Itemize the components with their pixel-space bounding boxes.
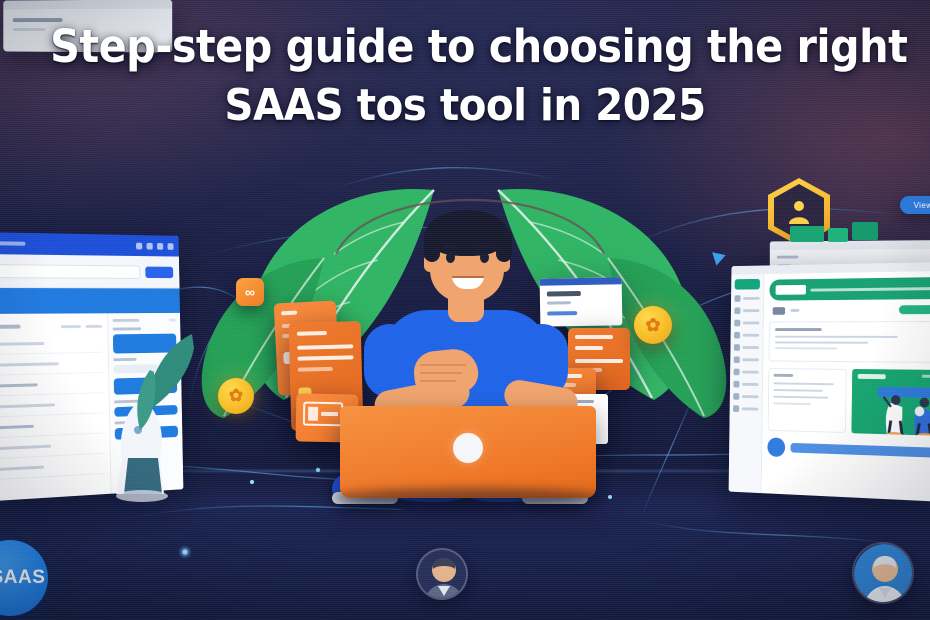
hair-side xyxy=(496,228,512,262)
table-row[interactable] xyxy=(0,333,102,355)
primary-action-button[interactable] xyxy=(145,266,173,278)
sidebar-item[interactable] xyxy=(734,332,759,339)
sidebar-item[interactable] xyxy=(734,320,759,327)
clock-icon xyxy=(734,332,740,339)
bell-icon[interactable] xyxy=(136,242,142,249)
sidebar-item[interactable] xyxy=(733,393,758,400)
sidebar-item[interactable] xyxy=(734,307,759,314)
gear-icon xyxy=(733,405,739,412)
right-dashboard-main xyxy=(762,271,930,502)
green-banner[interactable] xyxy=(769,277,930,301)
settings-icon[interactable] xyxy=(157,243,163,250)
file-icon xyxy=(733,393,739,400)
hero-character xyxy=(316,188,616,548)
headline-line-2: SAAS tos tool in 2025 xyxy=(50,77,880,134)
left-plant xyxy=(132,330,202,440)
drop-icon xyxy=(734,307,740,314)
avatar-center[interactable] xyxy=(416,548,468,600)
left-dashboard-navbar xyxy=(0,232,179,257)
chart-icon xyxy=(734,320,740,327)
eye-left xyxy=(446,252,455,263)
headline-line-1: Step-step guide to choosing the right xyxy=(50,18,880,77)
left-dashboard-toolbar xyxy=(0,254,180,289)
sidebar-item[interactable] xyxy=(733,381,758,388)
sidebar-logo[interactable] xyxy=(735,279,760,290)
metrics-card[interactable] xyxy=(769,321,930,363)
two-people-illustration xyxy=(879,391,930,436)
search-input[interactable] xyxy=(0,264,140,279)
saas-badge-label: SAAS xyxy=(0,567,45,589)
laptop-logo-icon xyxy=(453,433,483,463)
bottom-action-bar[interactable] xyxy=(790,443,930,458)
laptop-shadow xyxy=(330,488,604,508)
sidebar-item[interactable] xyxy=(733,405,758,412)
box-icon xyxy=(734,369,740,376)
share-icon[interactable]: ∞ xyxy=(236,278,264,306)
person-glyph-icon xyxy=(784,197,814,227)
tag-icon xyxy=(734,356,740,363)
green-presentation-panel[interactable] xyxy=(851,369,930,436)
green-chip-button[interactable] xyxy=(899,305,930,314)
grid-icon xyxy=(734,295,740,302)
chat-fab-icon[interactable] xyxy=(767,437,785,457)
hair-side xyxy=(424,228,440,262)
eye-right xyxy=(480,252,489,263)
finger-lines xyxy=(420,364,472,390)
headline: Step-step guide to choosing the right SA… xyxy=(0,18,930,134)
avatar-right[interactable] xyxy=(852,542,914,604)
left-dashboard-section-header xyxy=(0,288,180,314)
cart-icon[interactable] xyxy=(147,242,153,249)
right-dashboard-sidebar xyxy=(729,274,765,493)
green-chip xyxy=(790,226,824,242)
sidebar-item[interactable] xyxy=(734,369,759,376)
list-card[interactable] xyxy=(768,368,847,433)
left-dashboard-logo xyxy=(0,241,25,246)
user-icon[interactable] xyxy=(167,243,173,250)
coin-icon[interactable]: ✿ xyxy=(218,378,254,414)
sidebar-item[interactable] xyxy=(734,295,759,302)
green-chip xyxy=(852,222,878,240)
left-dashboard-table xyxy=(0,313,111,502)
folder-icon xyxy=(733,381,739,388)
sidebar-item[interactable] xyxy=(734,356,759,363)
top-right-pill-button[interactable]: View xyxy=(900,196,930,214)
right-dashboard-window[interactable] xyxy=(729,262,930,502)
brow-right xyxy=(477,245,491,248)
coin-icon[interactable]: ✿ xyxy=(634,306,672,344)
pill-button-label: View xyxy=(914,201,930,210)
sidebar-item[interactable] xyxy=(734,344,759,351)
table-row[interactable] xyxy=(0,454,105,481)
green-chip xyxy=(828,228,848,242)
brow-left xyxy=(443,245,457,248)
laptop[interactable] xyxy=(340,406,596,498)
note-icon xyxy=(734,344,740,351)
hero-graphic-canvas: ∞ ✿ ✿ View xyxy=(0,0,930,620)
